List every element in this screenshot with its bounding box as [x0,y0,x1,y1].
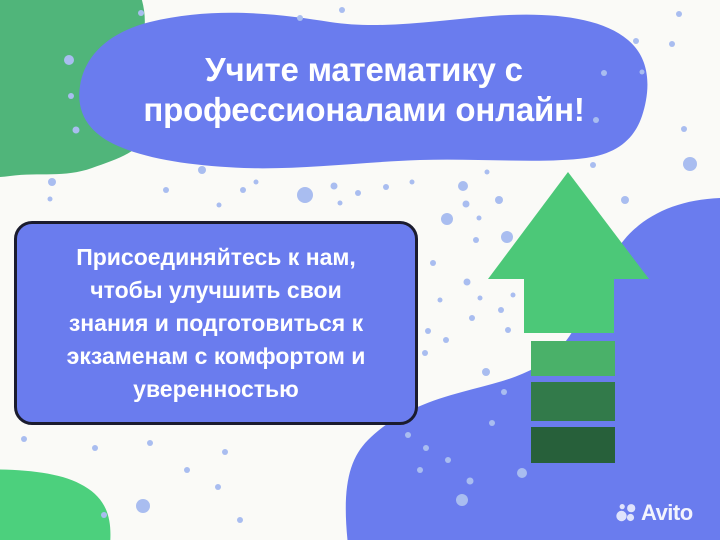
callout-line-5: уверенностью [133,373,299,406]
callout-line-2: чтобы улучшить свои [90,274,341,307]
arrow-bar-3 [531,427,615,463]
avito-logo-icon [615,503,637,523]
avito-watermark: Avito [615,500,693,526]
headline-line-2: профессионалами онлайн! [143,90,584,130]
callout-box: Присоединяйтесь к нам, чтобы улучшить св… [14,221,418,425]
callout-line-1: Присоединяйтесь к нам, [76,241,356,274]
headline: Учите математику с профессионалами онлай… [86,36,642,144]
poster-canvas: Учите математику с профессионалами онлай… [0,0,720,540]
arrow-bar-2 [531,382,615,421]
arrow-bar-1 [531,341,615,376]
callout-line-4: экзаменам с комфортом и [67,340,366,373]
arrow-shaft [524,272,614,333]
avito-wordmark: Avito [641,502,693,524]
headline-line-1: Учите математику с [205,50,523,90]
callout-line-3: знания и подготовиться к [69,307,363,340]
